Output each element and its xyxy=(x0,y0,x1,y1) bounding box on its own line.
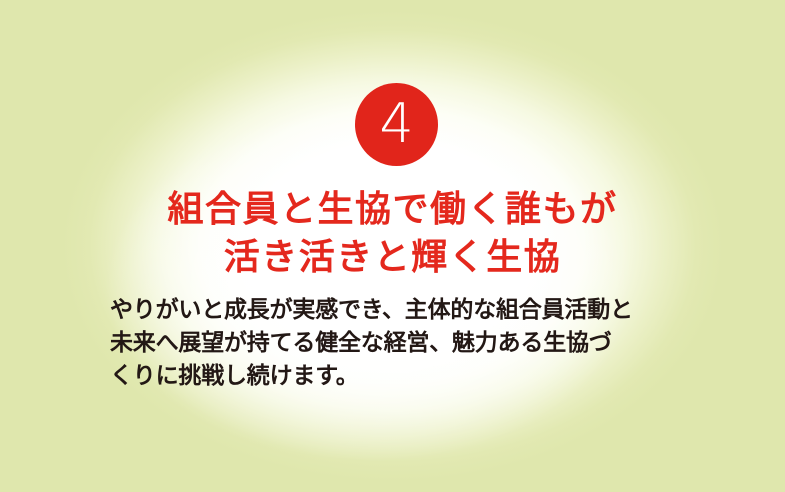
headline-line-2: 活き活きと輝く生協 xyxy=(0,234,785,282)
headline: 組合員と生協で働く誰もが 活き活きと輝く生協 xyxy=(0,186,785,282)
body-line-3: くりに挑戦し続けます。 xyxy=(110,360,680,393)
card-content: 4 組合員と生協で働く誰もが 活き活きと輝く生協 やりがいと成長が実感でき、主体… xyxy=(0,0,785,492)
headline-line-1: 組合員と生協で働く誰もが xyxy=(0,186,785,234)
number-badge-value: 4 xyxy=(379,97,413,151)
number-badge: 4 xyxy=(355,83,438,166)
body-line-1: やりがいと成長が実感でき、主体的な組合員活動と xyxy=(110,294,680,327)
body-copy: やりがいと成長が実感でき、主体的な組合員活動と 未来へ展望が持てる健全な経営、魅… xyxy=(110,294,680,393)
vision-card: 4 組合員と生協で働く誰もが 活き活きと輝く生協 やりがいと成長が実感でき、主体… xyxy=(0,0,785,492)
body-line-2: 未来へ展望が持てる健全な経営、魅力ある生協づ xyxy=(110,327,680,360)
